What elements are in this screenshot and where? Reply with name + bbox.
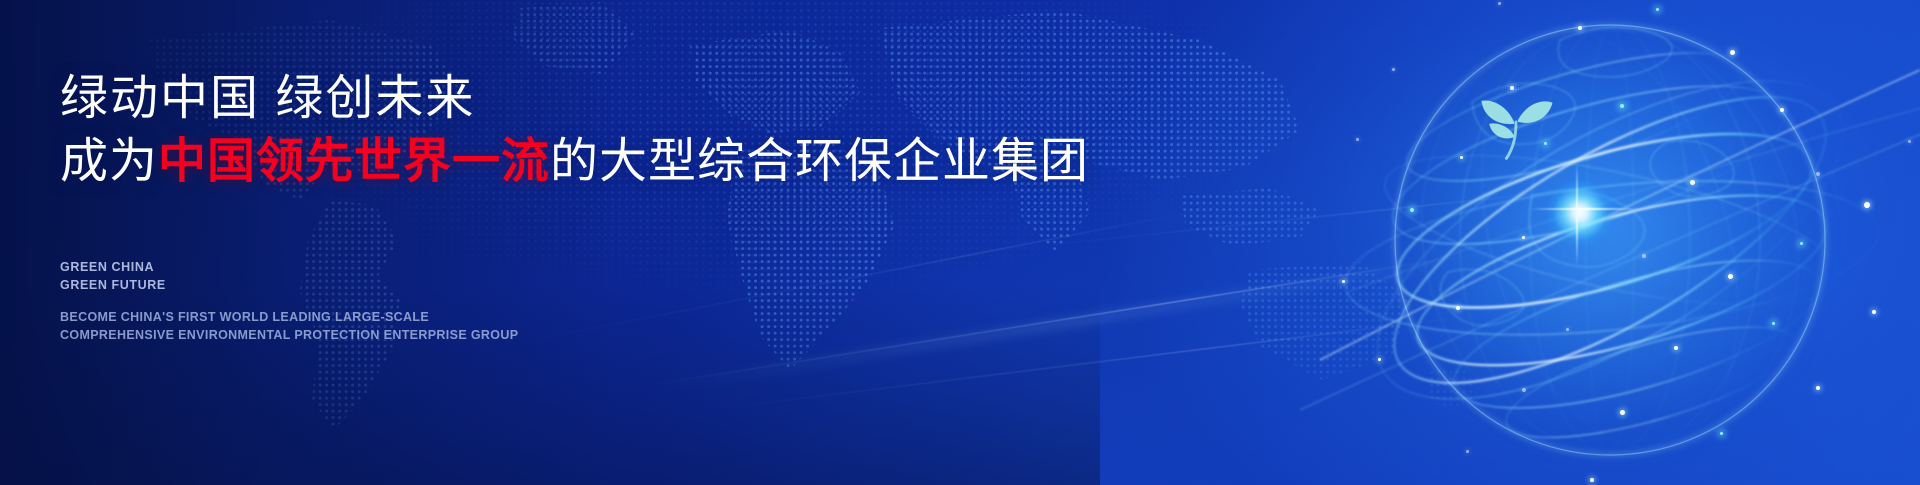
subtitle-line-2: COMPREHENSIVE ENVIRONMENTAL PROTECTION E… xyxy=(60,327,518,345)
particle-field xyxy=(1260,0,1920,485)
streak-3 xyxy=(507,196,1273,346)
headline-secondary: 成为中国领先世界一流的大型综合环保企业集团 xyxy=(60,133,1120,192)
subtitle-line-1: BECOME CHINA'S FIRST WORLD LEADING LARGE… xyxy=(60,309,518,327)
wireframe-globe-graphic xyxy=(1260,0,1920,485)
core-ray-horizontal xyxy=(1530,208,1640,210)
headline-primary: 绿动中国 绿创未来 xyxy=(60,70,1120,129)
subtitle-block: BECOME CHINA'S FIRST WORLD LEADING LARGE… xyxy=(60,309,518,345)
hero-banner: 绿动中国 绿创未来 成为中国领先世界一流的大型综合环保企业集团 GREEN CH… xyxy=(0,0,1920,485)
sprout-leaf-icon xyxy=(1468,72,1564,168)
headline-secondary-highlight: 中国领先世界一流 xyxy=(158,135,550,188)
streak-glow xyxy=(645,247,1516,394)
streak-1 xyxy=(625,248,1514,390)
globe-halo xyxy=(1410,40,1830,460)
headline-secondary-suffix: 的大型综合环保企业集团 xyxy=(550,135,1089,188)
headline-secondary-prefix: 成为 xyxy=(60,135,158,188)
streak-2 xyxy=(703,310,1517,411)
tagline-line-1: GREEN CHINA xyxy=(60,258,166,276)
core-ray-vertical xyxy=(1576,162,1578,266)
headline-block: 绿动中国 绿创未来 成为中国领先世界一流的大型综合环保企业集团 xyxy=(60,70,1120,191)
tagline-block: GREEN CHINA GREEN FUTURE xyxy=(60,258,166,294)
tagline-line-2: GREEN FUTURE xyxy=(60,276,166,294)
globe-core-glow xyxy=(1547,180,1613,246)
